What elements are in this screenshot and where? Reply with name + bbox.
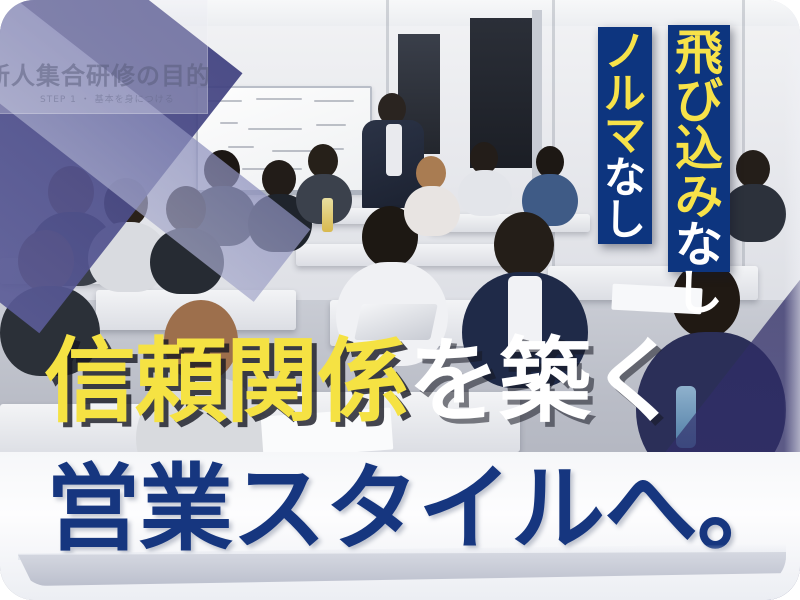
attendee-head	[736, 150, 770, 188]
badge-char: み	[675, 173, 723, 221]
badge-char: 込	[675, 125, 723, 173]
attendee-head	[494, 212, 554, 278]
badge-char: し	[675, 269, 723, 317]
attendee-head	[416, 156, 446, 190]
badge-char: ノ	[604, 31, 646, 73]
badge-norma-nashi: ノ ル マ な し	[598, 27, 652, 244]
attendee-body	[404, 186, 460, 236]
wall-seam	[742, 0, 745, 300]
badge-char: マ	[604, 115, 646, 157]
projector-slide-subtitle: STEP 1 ・ 基本を身につける	[40, 92, 270, 105]
drink-bottle	[322, 198, 333, 232]
photo-card: 新人集合研修の目的 STEP 1 ・ 基本を身につける ノ ル マ な し 飛 …	[0, 0, 800, 600]
badge-tobikomi-nashi: 飛 び 込 み な し	[668, 25, 730, 272]
presenter-shirt	[386, 124, 402, 176]
headline-line-1-yellow: 信頼関係	[44, 328, 408, 435]
banner-image: 新人集合研修の目的 STEP 1 ・ 基本を身につける ノ ル マ な し 飛 …	[0, 0, 800, 600]
headline-line-1: 信頼関係を築く	[44, 330, 764, 436]
badge-char: ル	[604, 73, 646, 115]
projector-slide-title: 新人集合研修の目的	[0, 56, 236, 91]
badge-char: な	[604, 157, 646, 199]
attendee-head	[308, 144, 338, 178]
badge-char: び	[675, 77, 723, 125]
badge-char: し	[604, 199, 646, 241]
headline-line-1-white: を築く	[408, 328, 681, 435]
badge-char: 飛	[675, 29, 723, 77]
attendee-body	[722, 184, 786, 242]
attendee-head	[262, 160, 296, 198]
attendee-body	[458, 170, 512, 216]
badge-char: な	[675, 221, 723, 269]
